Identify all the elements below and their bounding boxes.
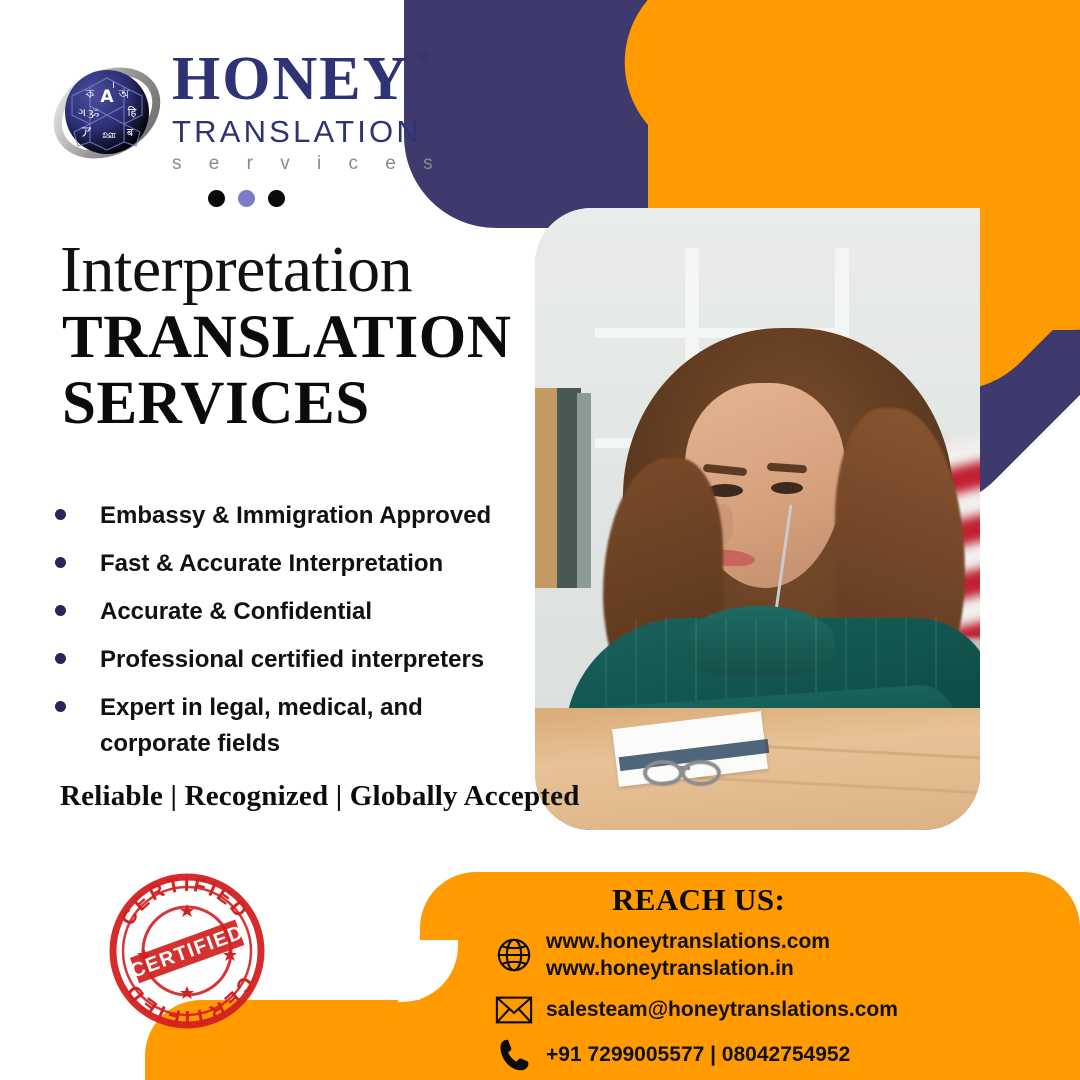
brand-name-secondary: TRANSLATION [172,114,472,150]
email-address[interactable]: salesteam@honeytranslations.com [546,996,898,1023]
contact-heading: REACH US: [612,882,785,918]
feature-label: Embassy & Immigration Approved [100,498,491,534]
eyeglasses-lens [681,760,721,786]
svg-text:हि: हि [128,106,137,119]
svg-text:ア: ア [80,125,92,139]
hero-script-line: Interpretation [60,237,412,303]
bullet-icon [55,605,66,616]
svg-text:ক: ক [85,87,95,101]
list-item: Accurate & Confidential [55,594,525,630]
list-item: Professional certified interpreters [55,642,525,678]
brand-name-primary: HONEY [172,45,409,113]
brand-name-tertiary: s e r v i c e s [172,153,472,175]
phone-icon [492,1037,536,1073]
certified-stamp-icon: CERTIFIED CERTIFIED CERTIFIED [104,868,270,1034]
bullet-icon [55,557,66,568]
feature-label: Expert in legal, medical, and corporate … [100,690,450,762]
svg-text:অ: অ [118,87,130,101]
decorative-dots [208,190,285,207]
bullet-icon [55,509,66,520]
envelope-icon [492,994,536,1026]
registered-trademark-icon: ® [418,50,432,66]
eye [771,482,803,494]
headline-line-2: SERVICES [62,371,512,437]
poster-canvas: A ক অ ગ हि ૐ ア ஊ ब । HONEY ® TRANSLATION… [0,0,1080,1080]
brand-wordmark: HONEY ® TRANSLATION s e r v i c e s [172,48,472,175]
eyeglasses-lens [643,760,683,786]
page-title: TRANSLATION SERVICES [62,305,512,437]
website-url-2[interactable]: www.honeytranslation.in [546,955,830,982]
list-item: Expert in legal, medical, and corporate … [55,690,525,762]
feature-label: Professional certified interpreters [100,642,484,678]
feature-list: Embassy & Immigration Approved Fast & Ac… [55,498,525,774]
tagline: Reliable | Recognized | Globally Accepte… [60,780,580,813]
dot-1 [208,190,225,207]
feature-label: Accurate & Confidential [100,594,372,630]
dot-2 [238,190,255,207]
list-item: Embassy & Immigration Approved [55,498,525,534]
book [577,393,591,588]
svg-text:ब: ब [127,126,134,139]
dot-3 [268,190,285,207]
svg-text:ૐ: ૐ [87,107,100,121]
sweater-collar [685,606,835,676]
contact-row-website[interactable]: www.honeytranslations.com www.honeytrans… [492,928,1052,983]
list-item: Fast & Accurate Interpretation [55,546,525,582]
globe-icon [492,936,536,974]
eyeglasses-bridge [678,766,690,770]
headline-line-1: TRANSLATION [62,305,512,371]
bullet-icon [55,653,66,664]
hero-photo [535,208,980,830]
bullet-icon [55,701,66,712]
svg-text:।: । [111,80,115,91]
contact-row-phone[interactable]: +91 7299005577 | 08042754952 [492,1037,1052,1073]
globe-languages-icon: A ক অ ગ हि ૐ ア ஊ ब । [52,58,162,168]
feature-label: Fast & Accurate Interpretation [100,546,443,582]
contact-list: www.honeytranslations.com www.honeytrans… [492,928,1052,1080]
contact-row-email[interactable]: salesteam@honeytranslations.com [492,994,1052,1026]
website-links[interactable]: www.honeytranslations.com www.honeytrans… [546,928,830,983]
svg-text:ગ: ગ [78,106,86,119]
brand-logo[interactable]: A ক অ ગ हि ૐ ア ஊ ब । HONEY ® TRANSLATION… [52,48,472,178]
website-url-1[interactable]: www.honeytranslations.com [546,928,830,955]
svg-text:ஊ: ஊ [102,128,116,141]
phone-numbers[interactable]: +91 7299005577 | 08042754952 [546,1041,850,1068]
